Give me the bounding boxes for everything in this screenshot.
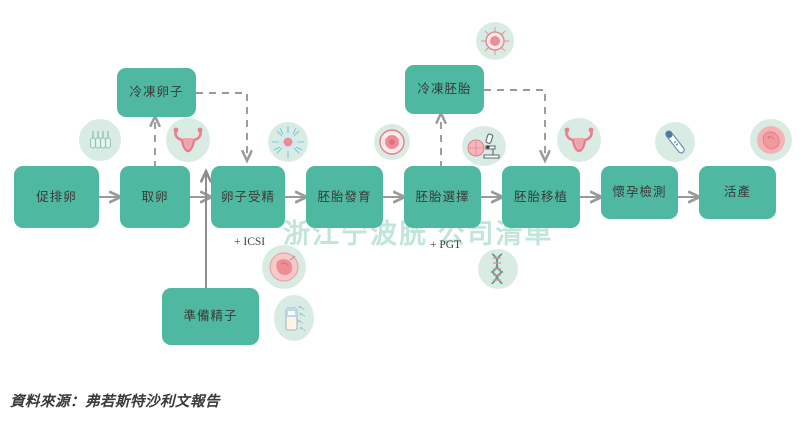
dna-helix-icon: [478, 249, 518, 289]
node-label: 胚胎選擇: [415, 190, 469, 205]
ivf-process-flowchart: 浙江宁波胱 公司清单 促排卵 取卵 卵子受精 胚胎發育 胚胎選擇 胚胎移植 懷孕…: [0, 0, 807, 426]
node-frozen-embryos[interactable]: 冷凍胚胎: [405, 65, 484, 114]
sperm-fertilizing-egg-icon: [268, 122, 308, 162]
node-label: 懷孕檢測: [612, 185, 666, 200]
node-label: 胚胎移植: [514, 190, 568, 205]
node-embryo-transfer[interactable]: 胚胎移植: [502, 166, 580, 228]
node-live-birth[interactable]: 活產: [699, 166, 776, 219]
node-label: 取卵: [141, 190, 168, 205]
node-label: 活產: [724, 185, 751, 200]
node-label: 冷凍胚胎: [417, 82, 471, 97]
uterus-icon: [557, 118, 601, 162]
source-footnote: 資料來源：弗若斯特沙利文報告: [10, 390, 220, 411]
node-label: 胚胎發育: [317, 190, 371, 205]
sublabel-icsi: + ICSI: [234, 236, 265, 248]
node-label: 卵子受精: [221, 190, 275, 205]
node-pregnancy-test[interactable]: 懷孕檢測: [601, 166, 678, 219]
node-ovarian-stimulation[interactable]: 促排卵: [14, 166, 99, 228]
node-embryo-selection[interactable]: 胚胎選擇: [404, 166, 481, 228]
node-sperm-preparation[interactable]: 準備精子: [162, 288, 259, 345]
zygote-cell-icon: [262, 245, 306, 289]
sublabel-pgt: + PGT: [430, 239, 461, 251]
microscope-icon: [462, 126, 506, 166]
node-label: 準備精子: [183, 309, 237, 324]
node-egg-fertilization[interactable]: 卵子受精: [211, 166, 285, 228]
sperm-sample-tube-icon: [274, 295, 314, 341]
node-label: 促排卵: [36, 190, 77, 205]
frozen-embryo-icon: [476, 22, 514, 60]
pregnancy-test-stick-icon: [655, 122, 695, 162]
embryo-cell-icon: [374, 124, 410, 160]
node-frozen-eggs[interactable]: 冷凍卵子: [117, 68, 196, 117]
fetus-icon: [750, 119, 792, 161]
uterus-icon: [166, 118, 210, 162]
node-label: 冷凍卵子: [129, 85, 183, 100]
node-embryo-development[interactable]: 胚胎發育: [306, 166, 383, 228]
node-egg-retrieval[interactable]: 取卵: [120, 166, 190, 228]
syringes-icon: [79, 119, 121, 161]
